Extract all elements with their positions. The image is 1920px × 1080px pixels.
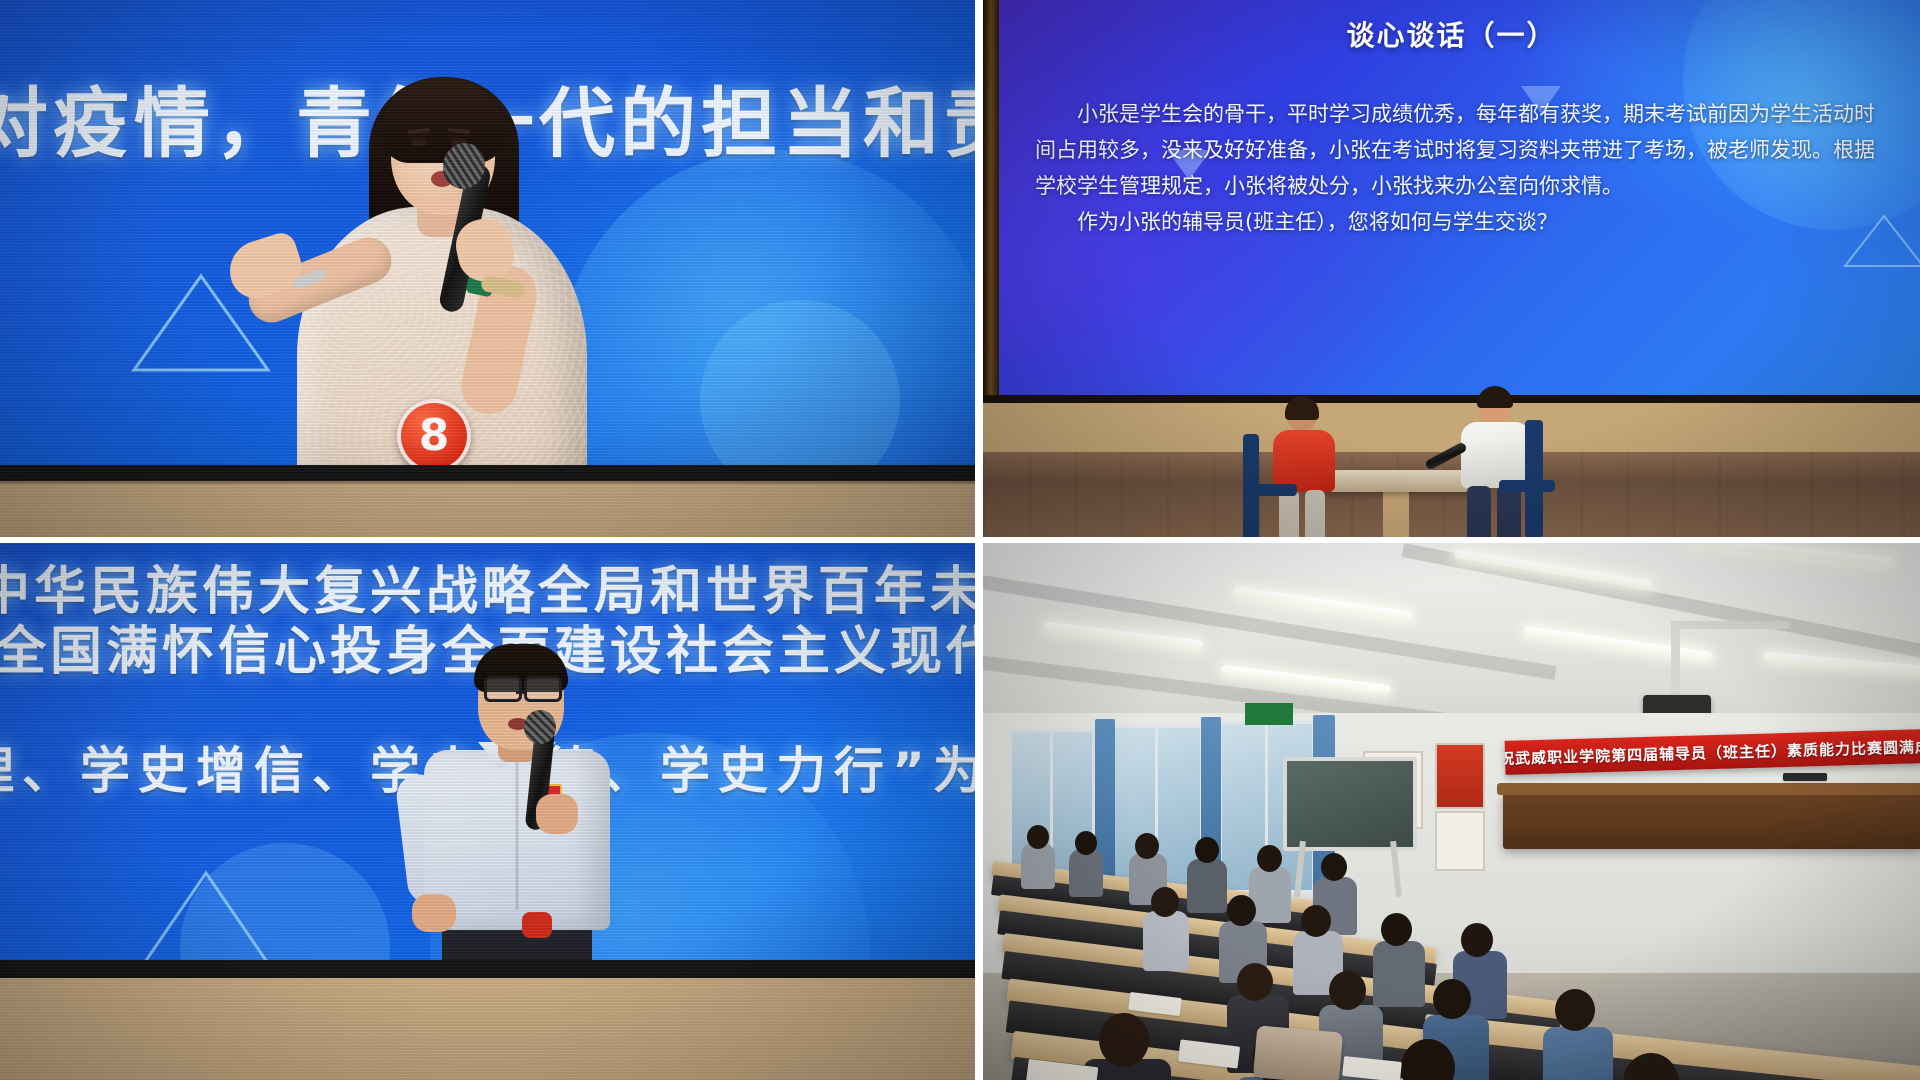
audience-member-10 [1373,941,1425,1007]
flipchart-board [1283,757,1417,851]
student-red-shirt [1273,430,1335,492]
rostrum-microphone-stand [1783,773,1827,781]
counselor-leg-right [1497,486,1521,537]
handbag-on-desk [1253,1025,1343,1080]
hand-right-holding-mic [536,794,578,834]
rostrum-desk [1503,791,1920,849]
audience-member-4 [1187,859,1227,913]
student-leg-right [1305,490,1325,537]
glasses-lens-left [484,676,522,702]
wall-panel-white [1435,811,1485,871]
rostrum-desk-top [1497,783,1920,795]
microphone-head-icon [524,710,556,744]
student-chair-seat [1243,484,1297,496]
red-object-in-hand [522,912,552,938]
audience-head-8 [1227,895,1256,926]
audience-head-1 [1027,825,1049,849]
contestant-number-badge: 8 [397,399,471,473]
panel-heart-to-heart-talk-roleplay: 谈心谈话（一） 小张是学生会的骨干，平时学习成绩优秀，每年都有获奖，期末考试前因… [983,0,1920,537]
counselor-chair-seat [1499,480,1555,492]
audience-head-6 [1321,853,1347,881]
audience-head-14 [1433,979,1471,1019]
student-leg-left [1279,490,1299,537]
photo-collage: 对疫情，青年一代的担当和责任 8 [0,0,1920,1080]
stage-floor [983,452,1920,537]
audience-member-1 [1021,843,1055,889]
audience-member-15 [1543,1027,1613,1080]
audience-head-9 [1301,905,1331,937]
audience-head-13 [1329,971,1366,1010]
audience-member-2 [1069,849,1103,897]
wall-poster-red [1435,743,1485,809]
hand-left [412,894,456,932]
panel-female-contestant-speech: 对疫情，青年一代的担当和责任 8 [0,0,975,537]
counselor-chair [1525,420,1543,537]
projector-mount-bar [1671,621,1789,629]
panel-classroom-audience: 预祝武威职业学院第四届辅导员（班主任）素质能力比赛圆满成功 [983,543,1920,1080]
audience-head-16 [1099,1013,1149,1067]
contestant-number-text: 8 [419,414,450,458]
table-column [1383,490,1409,537]
stage-skirt [0,465,975,537]
audience-member-7 [1143,911,1189,971]
audience-head-12 [1237,963,1273,1001]
competition-banner-text: 预祝武威职业学院第四届辅导员（班主任）素质能力比赛圆满成功 [1505,735,1920,769]
stage-skirt [0,960,975,1080]
slide-paragraph-2: 作为小张的辅导员(班主任），您将如何与学生交谈？ [1035,204,1880,240]
panel-male-contestant-speech: 中华民族伟大复兴战略全局和世界百年未 全国满怀信心投身全面建设社会主义现代化 理… [0,543,975,1080]
slide-title: 谈心谈话（一） [983,14,1920,54]
audience-head-3 [1135,833,1159,859]
eye-left [411,139,427,146]
screen-left-frame [983,0,999,400]
audience-head-5 [1257,845,1282,872]
glasses-lens-right [524,676,562,702]
audience-head-10 [1381,913,1412,946]
slide-body: 小张是学生会的骨干，平时学习成绩优秀，每年都有获奖，期末考试前因为学生活动时间占… [1035,96,1880,240]
exit-sign [1245,703,1293,725]
audience-head-4 [1195,837,1219,863]
audience-head-7 [1151,887,1179,917]
counselor-white-shirt [1461,422,1531,488]
glasses-bridge [516,691,526,694]
audience-head-11 [1461,923,1493,957]
audience-head-2 [1075,831,1097,855]
projector-mount-arm [1671,621,1680,699]
counselor-leg-left [1467,486,1491,537]
slide-paragraph-1: 小张是学生会的骨干，平时学习成绩优秀，每年都有获奖，期末考试前因为学生活动时间占… [1035,96,1880,204]
audience-head-15 [1555,989,1595,1031]
round-table-top [1313,470,1483,492]
